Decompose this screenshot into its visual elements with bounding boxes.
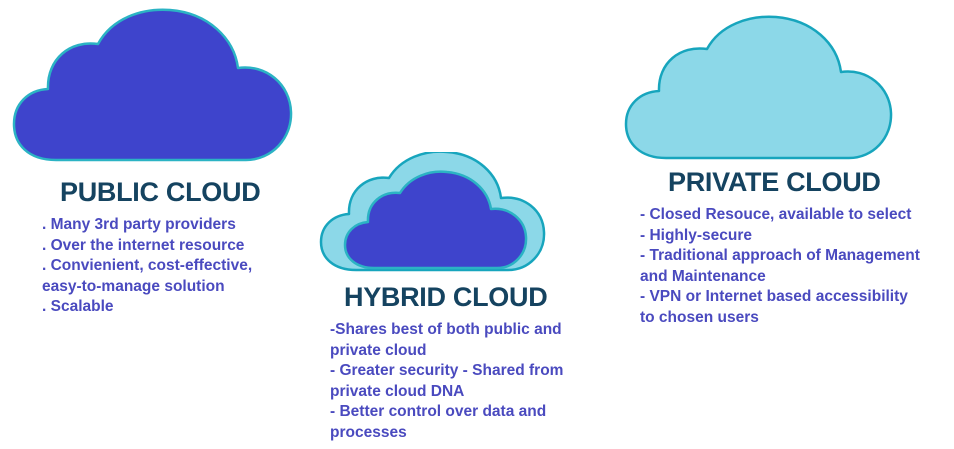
cloud-icon-blue-in-cyan: [316, 152, 594, 276]
list-item: easy-to-manage solution: [36, 277, 304, 297]
list-item: - Greater security - Shared from: [330, 361, 598, 381]
list-item: - Closed Resouce, available to select: [640, 205, 940, 225]
private-cloud-title: PRIVATE CLOUD: [640, 168, 940, 196]
hybrid-cloud-title: HYBRID CLOUD: [330, 283, 598, 311]
list-item: - Better control over data and: [330, 402, 598, 422]
public-cloud-panel: PUBLIC CLOUD . Many 3rd party providers …: [36, 178, 304, 318]
list-item: private cloud: [330, 341, 598, 361]
public-cloud-title: PUBLIC CLOUD: [36, 178, 304, 206]
list-item: . Many 3rd party providers: [36, 215, 304, 235]
list-item: to chosen users: [640, 308, 940, 328]
cloud-icon-solid-blue: [8, 4, 298, 164]
list-item: - Highly-secure: [640, 226, 940, 246]
private-cloud-bullet-list: - Closed Resouce, available to select - …: [640, 205, 940, 328]
cloud-types-infographic: PUBLIC CLOUD . Many 3rd party providers …: [0, 0, 954, 449]
list-item: . Over the internet resource: [36, 236, 304, 256]
cloud-icon-solid-cyan: [618, 14, 910, 164]
list-item: and Maintenance: [640, 267, 940, 287]
list-item: . Scalable: [36, 297, 304, 317]
hybrid-cloud-panel: HYBRID CLOUD -Shares best of both public…: [330, 283, 598, 443]
list-item: . Convienient, cost-effective,: [36, 256, 304, 276]
list-item: processes: [330, 423, 598, 443]
list-item: - VPN or Internet based accessibility: [640, 287, 940, 307]
public-cloud-bullet-list: . Many 3rd party providers . Over the in…: [36, 215, 304, 317]
private-cloud-panel: PRIVATE CLOUD - Closed Resouce, availabl…: [640, 168, 940, 328]
hybrid-cloud-bullet-list: -Shares best of both public and private …: [330, 320, 598, 443]
list-item: - Traditional approach of Management: [640, 246, 940, 266]
list-item: private cloud DNA: [330, 382, 598, 402]
list-item: -Shares best of both public and: [330, 320, 598, 340]
